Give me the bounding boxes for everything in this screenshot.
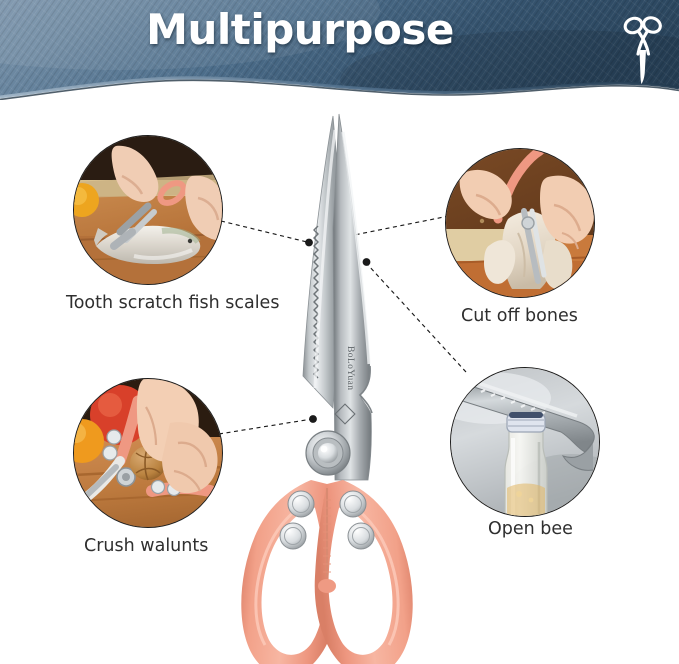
callout-open-bee: Open bee <box>450 367 600 517</box>
header-banner: Multipurpose <box>0 0 679 100</box>
product-image-kitchen-shears: BoLoYuan <box>215 108 465 664</box>
infographic-canvas: Multipurpose <box>0 0 679 664</box>
callout-image-fish-scales <box>73 135 223 285</box>
callout-tooth-scratch-fish-scales: Tooth scratch fish scales <box>73 135 223 285</box>
blade-bottle-opener: BoLoYuan <box>333 114 372 480</box>
callout-caption: Tooth scratch fish scales <box>66 293 326 313</box>
beer-bottle <box>505 412 547 517</box>
brand-mark: BoLoYuan <box>345 346 355 390</box>
callout-caption: Cut off bones <box>461 306 679 326</box>
callout-image-cut-bones <box>445 148 595 298</box>
callout-image-open-beer <box>450 367 600 517</box>
page-title: Multipurpose <box>0 8 600 52</box>
callout-caption: Crush walunts <box>84 536 344 556</box>
callout-image-crush-walnuts <box>73 378 223 528</box>
pivot-screw <box>306 431 350 475</box>
brand-text: BoLoYuan <box>345 346 355 390</box>
callout-cut-off-bones: Cut off bones <box>445 148 595 298</box>
callout-caption: Open bee <box>488 519 679 539</box>
scissors-icon <box>620 14 666 86</box>
callout-crush-walunts: Crush walunts <box>73 378 223 528</box>
